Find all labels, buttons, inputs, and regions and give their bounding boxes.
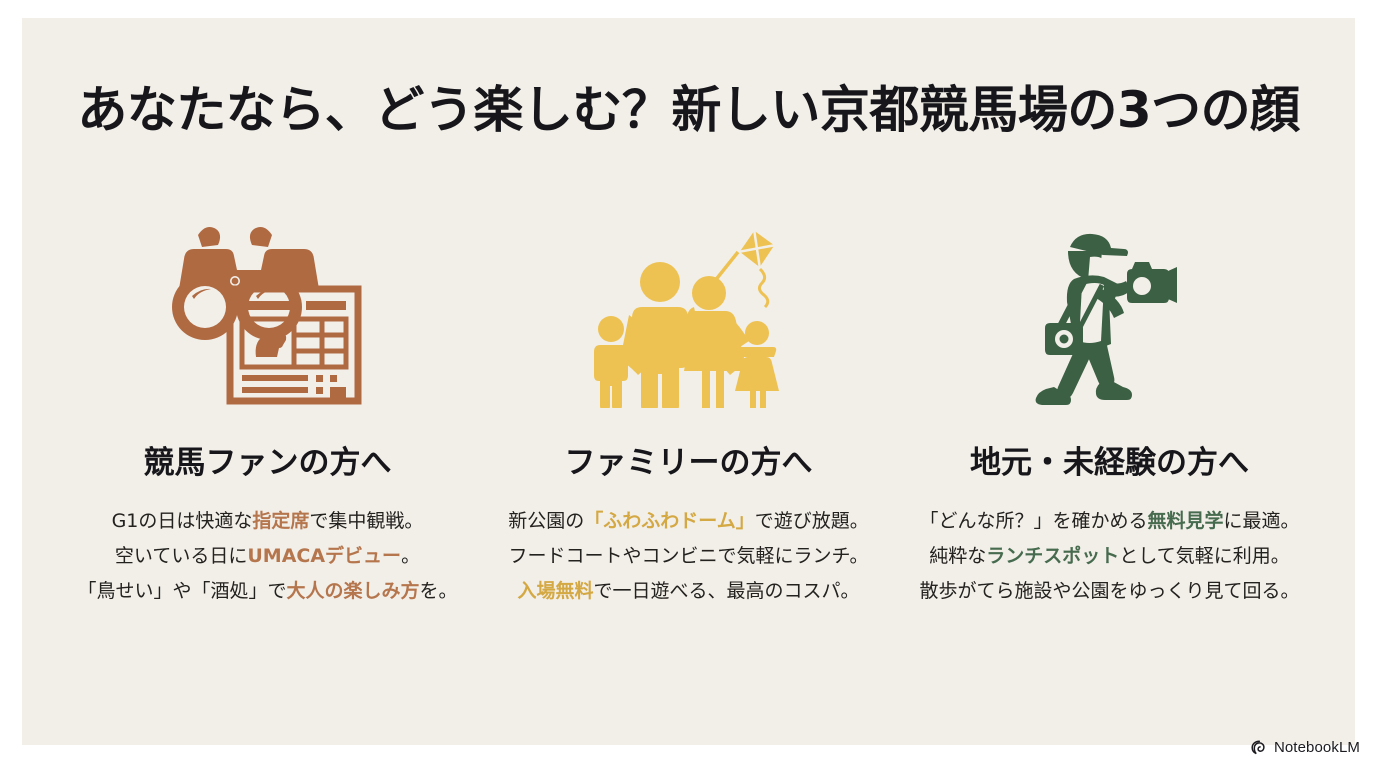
line-post: で遊び放題。 [755, 510, 869, 532]
column-list: 競馬ファンの方へ G1の日は快適な指定席で集中観戦。 空いている日にUMACAデ… [60, 218, 1317, 688]
line-pre: 散歩がてら施設や公園をゆっくり見て回る。 [919, 580, 1299, 602]
body-line: 新公園の「ふわふわドーム」で遊び放題。 [481, 504, 896, 539]
line-highlight: UMACAデビュー [247, 545, 401, 567]
line-highlight: 指定席 [252, 510, 309, 532]
column-body: 新公園の「ふわふわドーム」で遊び放題。 フードコートやコンビニで気軽にランチ。 … [481, 504, 896, 609]
page-title: あなたなら、どう楽しむ？新しい京都競馬場の3つの顔 [22, 70, 1355, 142]
column-families: ファミリーの方へ 新公園の「ふわふわドーム」で遊び放題。 フードコートやコンビニ… [481, 218, 896, 609]
line-pre: 「鳥せい」や「酒処」で [77, 580, 286, 602]
line-highlight: 大人の楽しみ方 [286, 580, 419, 602]
line-highlight: 入場無料 [517, 580, 593, 602]
body-line: 入場無料で一日遊べる、最高のコスパ。 [481, 574, 896, 609]
column-locals: 地元・未経験の方へ 「どんな所？」を確かめる無料見学に最適。 純粋なランチスポッ… [902, 218, 1317, 609]
column-heading: ファミリーの方へ [565, 437, 813, 482]
line-post: で一日遊べる、最高のコスパ。 [594, 580, 860, 602]
slide-root: あなたなら、どう楽しむ？新しい京都競馬場の3つの顔 [0, 0, 1376, 768]
column-racing-fans: 競馬ファンの方へ G1の日は快適な指定席で集中観戦。 空いている日にUMACAデ… [60, 218, 475, 609]
line-highlight: ランチスポット [986, 545, 1119, 567]
binoculars-racing-form-icon [60, 218, 475, 413]
column-body: 「どんな所？」を確かめる無料見学に最適。 純粋なランチスポットとして気軽に利用。… [902, 504, 1317, 609]
line-pre: G1の日は快適な [112, 510, 253, 532]
line-pre: フードコートやコンビニで気軽にランチ。 [508, 545, 868, 567]
line-post: で集中観戦。 [309, 510, 423, 532]
walking-photographer-icon [902, 218, 1317, 413]
line-pre: 新公園の [508, 510, 584, 532]
body-line: 空いている日にUMACAデビュー。 [60, 539, 475, 574]
body-line: 散歩がてら施設や公園をゆっくり見て回る。 [902, 574, 1317, 609]
line-pre: 空いている日に [115, 545, 247, 567]
column-heading: 競馬ファンの方へ [144, 437, 392, 482]
body-line: G1の日は快適な指定席で集中観戦。 [60, 504, 475, 539]
body-line: フードコートやコンビニで気軽にランチ。 [481, 539, 896, 574]
body-line: 「どんな所？」を確かめる無料見学に最適。 [902, 504, 1317, 539]
line-post: を。 [420, 580, 458, 602]
notebooklm-attribution: NotebookLM [1251, 739, 1360, 756]
body-line: 「鳥せい」や「酒処」で大人の楽しみ方を。 [60, 574, 475, 609]
line-highlight: 無料見学 [1147, 510, 1223, 532]
line-post: として気軽に利用。 [1119, 545, 1289, 567]
notebooklm-label: NotebookLM [1274, 739, 1360, 756]
column-heading: 地元・未経験の方へ [970, 437, 1249, 482]
column-body: G1の日は快適な指定席で集中観戦。 空いている日にUMACAデビュー。 「鳥せい… [60, 504, 475, 609]
line-pre: 純粋な [929, 545, 986, 567]
line-post: に最適。 [1224, 510, 1300, 532]
line-pre: 「どんな所？」を確かめる [919, 510, 1147, 532]
slide-panel: あなたなら、どう楽しむ？新しい京都競馬場の3つの顔 [22, 18, 1355, 745]
body-line: 純粋なランチスポットとして気軽に利用。 [902, 539, 1317, 574]
line-highlight: 「ふわふわドーム」 [584, 510, 754, 532]
line-post: 。 [401, 545, 420, 567]
family-with-kite-icon [481, 218, 896, 413]
notebooklm-spiral-icon [1251, 740, 1268, 755]
